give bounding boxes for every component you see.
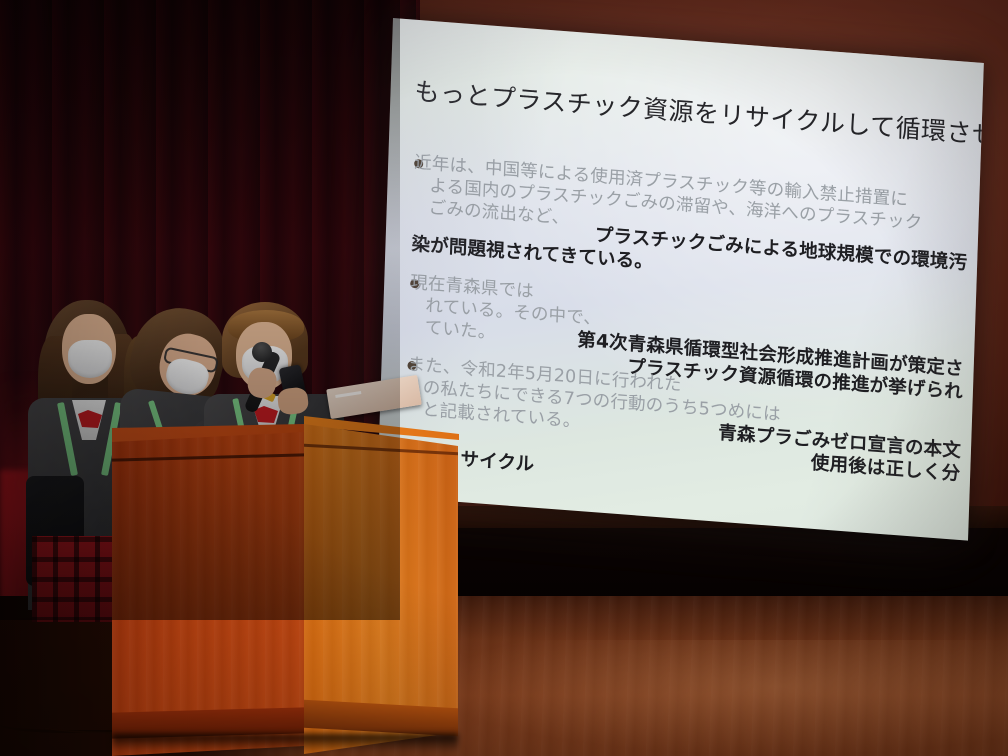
paper-line: [335, 391, 361, 398]
face-mask: [68, 340, 112, 378]
stage-presentation-scene: もっとプラスチック資源をリサイクルして循環させる。 近年は、中国等による使用済プ…: [0, 0, 1008, 756]
wooden-podium: [112, 404, 458, 756]
screen-vignette: [377, 18, 984, 541]
podium-ground-shadow: [112, 734, 458, 752]
projection-screen: もっとプラスチック資源をリサイクルして循環させる。 近年は、中国等による使用済プ…: [376, 18, 983, 563]
screen-surface: もっとプラスチック資源をリサイクルして循環させる。 近年は、中国等による使用済プ…: [377, 18, 984, 541]
floor-highlight: [430, 640, 1008, 756]
